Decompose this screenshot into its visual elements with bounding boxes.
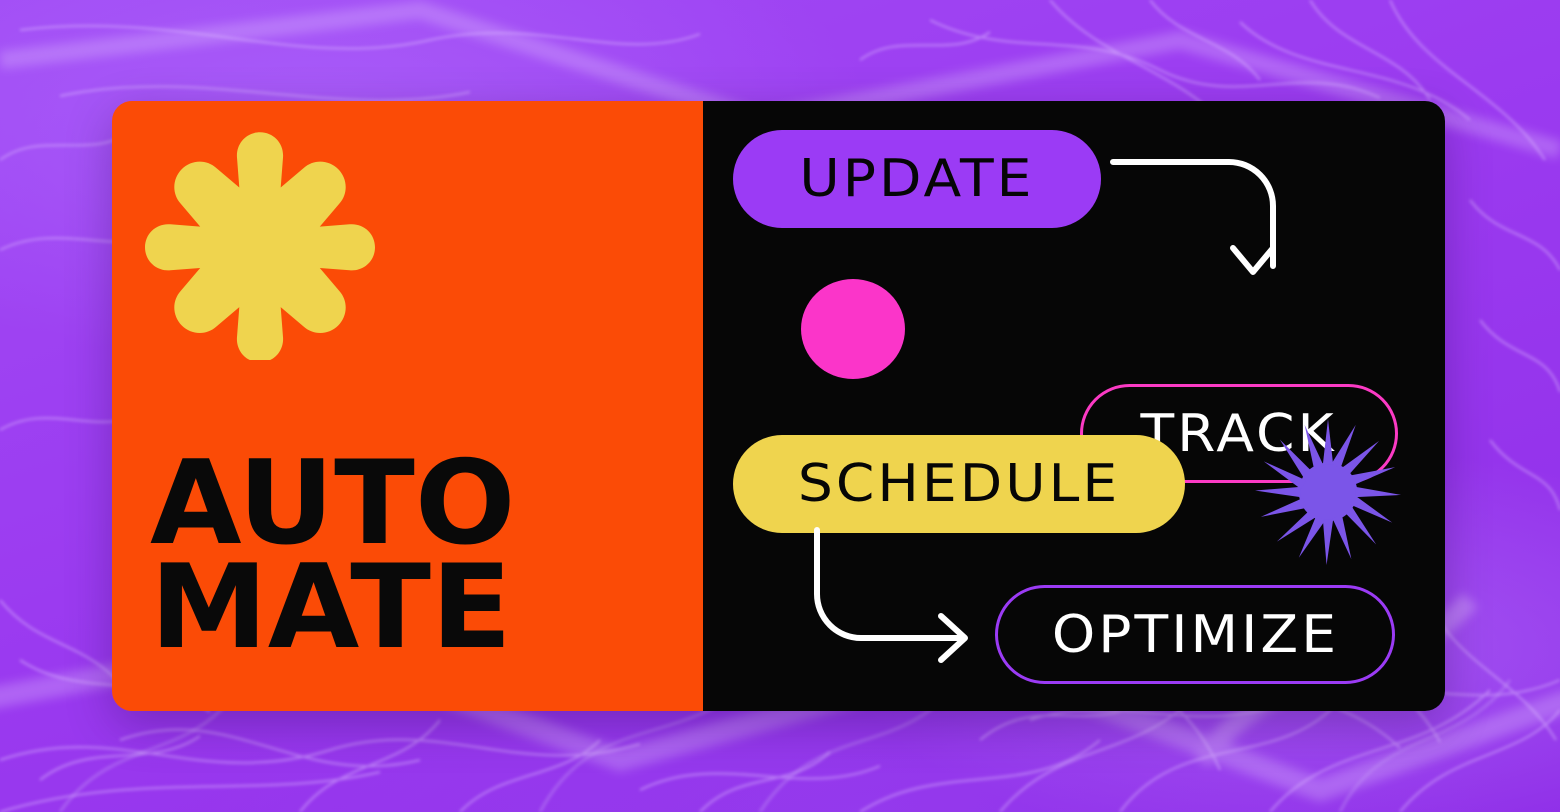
pill-update-label: UPDATE <box>799 149 1034 209</box>
pink-circle-icon <box>801 279 905 379</box>
pill-optimize[interactable]: OPTIMIZE <box>995 585 1395 684</box>
poster-card: AUTO MATE UPDATE TRACK SCHEDULE OPTIMIZE <box>112 101 1445 711</box>
pill-optimize-label: OPTIMIZE <box>1051 605 1338 665</box>
arrow-update-to-track-icon <box>1111 156 1291 291</box>
brand-panel: AUTO MATE <box>112 101 703 711</box>
spiky-starburst-icon <box>1255 419 1401 565</box>
workflow-panel: UPDATE TRACK SCHEDULE OPTIMIZE <box>703 101 1445 711</box>
brand-wordmark: AUTO MATE <box>150 453 508 659</box>
arrow-schedule-to-optimize-icon <box>811 528 991 663</box>
pill-schedule-label: SCHEDULE <box>798 454 1120 514</box>
wordmark-line-2: MATE <box>150 557 516 659</box>
eight-point-flower-star-icon <box>145 130 375 360</box>
pill-schedule[interactable]: SCHEDULE <box>733 435 1185 533</box>
pill-update[interactable]: UPDATE <box>733 130 1101 228</box>
poster-canvas: AUTO MATE UPDATE TRACK SCHEDULE OPTIMIZE <box>0 0 1560 812</box>
